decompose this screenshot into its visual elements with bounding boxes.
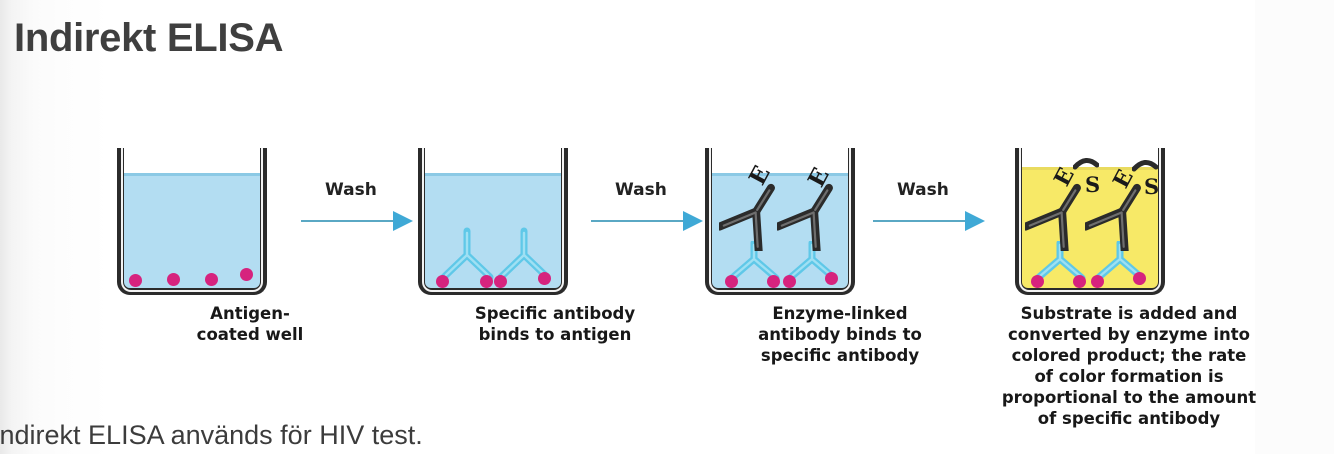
well-3: E E xyxy=(705,148,855,295)
arrow-head-icon xyxy=(393,211,413,231)
caption-line: Enzyme-linked xyxy=(695,304,985,325)
page-title: Indirekt ELISA xyxy=(14,16,283,61)
antigen-dot xyxy=(1133,272,1146,285)
caption-line: of color formation is xyxy=(979,367,1279,388)
well-1 xyxy=(117,148,267,295)
antigen-dot xyxy=(767,275,780,288)
antigen-dot xyxy=(1031,275,1044,288)
antigen-dot xyxy=(725,275,738,288)
caption-line: coated well xyxy=(105,325,395,346)
caption-line: binds to antigen xyxy=(410,325,700,346)
antigen-dot xyxy=(129,274,142,287)
caption-line: proportional to the amount xyxy=(979,388,1279,409)
slide-body-caption: Indirekt ELISA används för HIV test. xyxy=(0,420,423,451)
step-3-caption: Enzyme-linked antibody binds to specific… xyxy=(695,304,985,367)
antigen-dot xyxy=(783,275,796,288)
antigen-dot xyxy=(205,273,218,286)
antigen-dot xyxy=(167,273,180,286)
antigen-dot xyxy=(1073,275,1086,288)
antigen-dot xyxy=(494,275,507,288)
wash-label: Wash xyxy=(615,180,667,200)
liquid-surface xyxy=(123,173,261,176)
caption-line: converted by enzyme into xyxy=(979,325,1279,346)
enzyme-linked-antibody xyxy=(777,179,847,251)
caption-line: Specific antibody xyxy=(410,304,700,325)
well-2 xyxy=(418,148,568,295)
arrow-shaft-icon xyxy=(591,220,691,222)
substrate-icon xyxy=(1073,154,1099,170)
caption-line: Substrate is added and xyxy=(979,304,1279,325)
arrow-head-icon xyxy=(683,211,703,231)
arrow-shaft-icon xyxy=(873,220,973,222)
caption-line: colored product; the rate xyxy=(979,346,1279,367)
step-4-caption: Substrate is added and converted by enzy… xyxy=(979,304,1279,430)
arrow-shaft-icon xyxy=(301,220,401,222)
wash-label: Wash xyxy=(325,180,377,200)
antigen-dot xyxy=(825,272,838,285)
caption-line: specific antibody xyxy=(695,346,985,367)
substrate-label: S xyxy=(1085,172,1100,197)
caption-line: of specific antibody xyxy=(979,409,1279,430)
antigen-dot xyxy=(538,272,551,285)
elisa-diagram-figure: Antigen- coated well Wash xyxy=(105,120,1255,454)
step-2-caption: Specific antibody binds to antigen xyxy=(410,304,700,346)
substrate-label: S xyxy=(1144,174,1159,199)
wash-label: Wash xyxy=(897,180,949,200)
wash-arrow-3: Wash xyxy=(873,180,993,244)
arrow-head-icon xyxy=(965,211,985,231)
step-1-caption: Antigen- coated well xyxy=(105,304,395,346)
slide-canvas: Indirekt ELISA Antigen- coate xyxy=(0,0,1334,454)
antigen-dot xyxy=(240,268,253,281)
antigen-dot xyxy=(1091,275,1104,288)
wash-arrow-1: Wash xyxy=(301,180,421,244)
antigen-dot xyxy=(480,275,493,288)
liquid-surface xyxy=(424,173,562,176)
substrate-icon xyxy=(1132,156,1158,172)
caption-line: Antigen- xyxy=(105,304,395,325)
caption-line: antibody binds to xyxy=(695,325,985,346)
antigen-dot xyxy=(436,275,449,288)
well-4: E E S S xyxy=(1015,148,1165,295)
wash-arrow-2: Wash xyxy=(591,180,711,244)
